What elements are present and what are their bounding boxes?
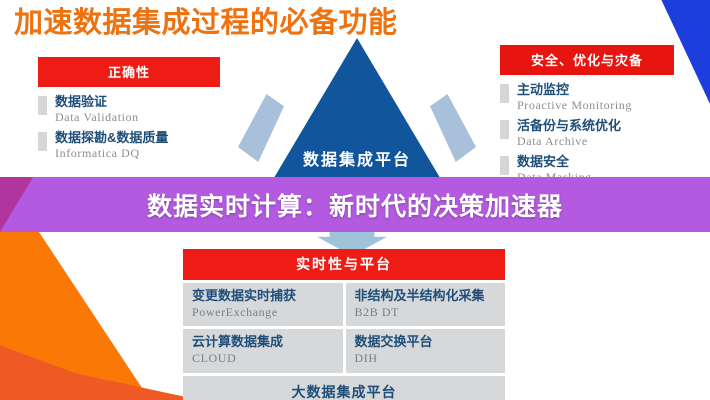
- platform-table-header: 实时性与平台: [183, 249, 505, 280]
- table-cell-label-cn: 大数据集成平台: [192, 383, 496, 400]
- panel-correctness: 正确性 数据验证 Data Validation 数据探勘&数据质量 Infor…: [38, 57, 220, 166]
- panel-correctness-header: 正确性: [38, 57, 220, 87]
- table-cell-label-cn: 云计算数据集成: [192, 334, 334, 351]
- overlay-headline: 数据实时计算：新时代的决策加速器: [147, 187, 563, 223]
- table-cell: 变更数据实时捕获 PowerExchange: [183, 283, 343, 326]
- table-cell: 云计算数据集成 CLOUD: [183, 329, 343, 372]
- page-title: 加速数据集成过程的必备功能: [14, 6, 398, 41]
- table-cell-label-cn: 数据交换平台: [355, 334, 497, 351]
- bullet-icon: [500, 84, 509, 103]
- table-row: 云计算数据集成 CLOUD 数据交换平台 DIH: [183, 329, 505, 372]
- pyramid-label: 数据集成平台: [238, 146, 476, 170]
- panel-security-list: 主动监控 Proactive Monitoring 活备份与系统优化 Data …: [500, 82, 674, 186]
- list-item-label-cn: 数据探勘&数据质量: [55, 130, 220, 146]
- bullet-icon: [38, 132, 47, 151]
- list-item-label-en: Data Validation: [55, 110, 220, 126]
- panel-security-header: 安全、优化与灾备: [500, 45, 674, 75]
- table-cell-label-cn: 非结构及半结构化采集: [355, 288, 497, 305]
- list-item-label-cn: 数据验证: [55, 94, 220, 110]
- table-cell: 非结构及半结构化采集 B2B DT: [346, 283, 506, 326]
- table-cell-label-en: CLOUD: [192, 351, 334, 367]
- table-cell-label-en: PowerExchange: [192, 305, 334, 321]
- pyramid-triangle-shape: [262, 38, 452, 198]
- pyramid-diagram: 数据集成平台: [238, 38, 476, 198]
- platform-table: 实时性与平台 变更数据实时捕获 PowerExchange 非结构及半结构化采集…: [183, 249, 505, 400]
- list-item-label-en: Proactive Monitoring: [517, 98, 674, 114]
- bullet-icon: [38, 96, 47, 115]
- list-item-label-en: Informatica DQ: [55, 146, 220, 162]
- table-cell-footer: 大数据集成平台 Big Data Edition: [183, 376, 505, 400]
- table-cell-label-en: DIH: [355, 351, 497, 367]
- bullet-icon: [500, 120, 509, 139]
- overlay-banner: 数据实时计算：新时代的决策加速器: [0, 177, 710, 232]
- table-cell: 数据交换平台 DIH: [346, 329, 506, 372]
- table-row: 大数据集成平台 Big Data Edition: [183, 376, 505, 400]
- table-row: 变更数据实时捕获 PowerExchange 非结构及半结构化采集 B2B DT: [183, 283, 505, 326]
- overlay-banner-accent: [0, 177, 64, 232]
- table-cell-label-cn: 变更数据实时捕获: [192, 288, 334, 305]
- panel-security: 安全、优化与灾备 主动监控 Proactive Monitoring 活备份与系…: [500, 45, 674, 190]
- list-item: 数据验证 Data Validation: [38, 94, 220, 126]
- list-item: 主动监控 Proactive Monitoring: [500, 82, 674, 114]
- bullet-icon: [500, 156, 509, 175]
- table-cell-label-en: B2B DT: [355, 305, 497, 321]
- slide-canvas: 加速数据集成过程的必备功能 正确性 数据验证 Data Validation 数…: [0, 0, 710, 400]
- list-item: 数据探勘&数据质量 Informatica DQ: [38, 130, 220, 162]
- orange-corner-decoration: [0, 232, 150, 400]
- orange-corner-decoration-dark: [0, 330, 200, 400]
- list-item-label-cn: 活备份与系统优化: [517, 118, 674, 134]
- list-item-label-cn: 主动监控: [517, 82, 674, 98]
- list-item: 活备份与系统优化 Data Archive: [500, 118, 674, 150]
- list-item-label-cn: 数据安全: [517, 154, 674, 170]
- list-item-label-en: Data Archive: [517, 134, 674, 150]
- panel-correctness-list: 数据验证 Data Validation 数据探勘&数据质量 Informati…: [38, 94, 220, 162]
